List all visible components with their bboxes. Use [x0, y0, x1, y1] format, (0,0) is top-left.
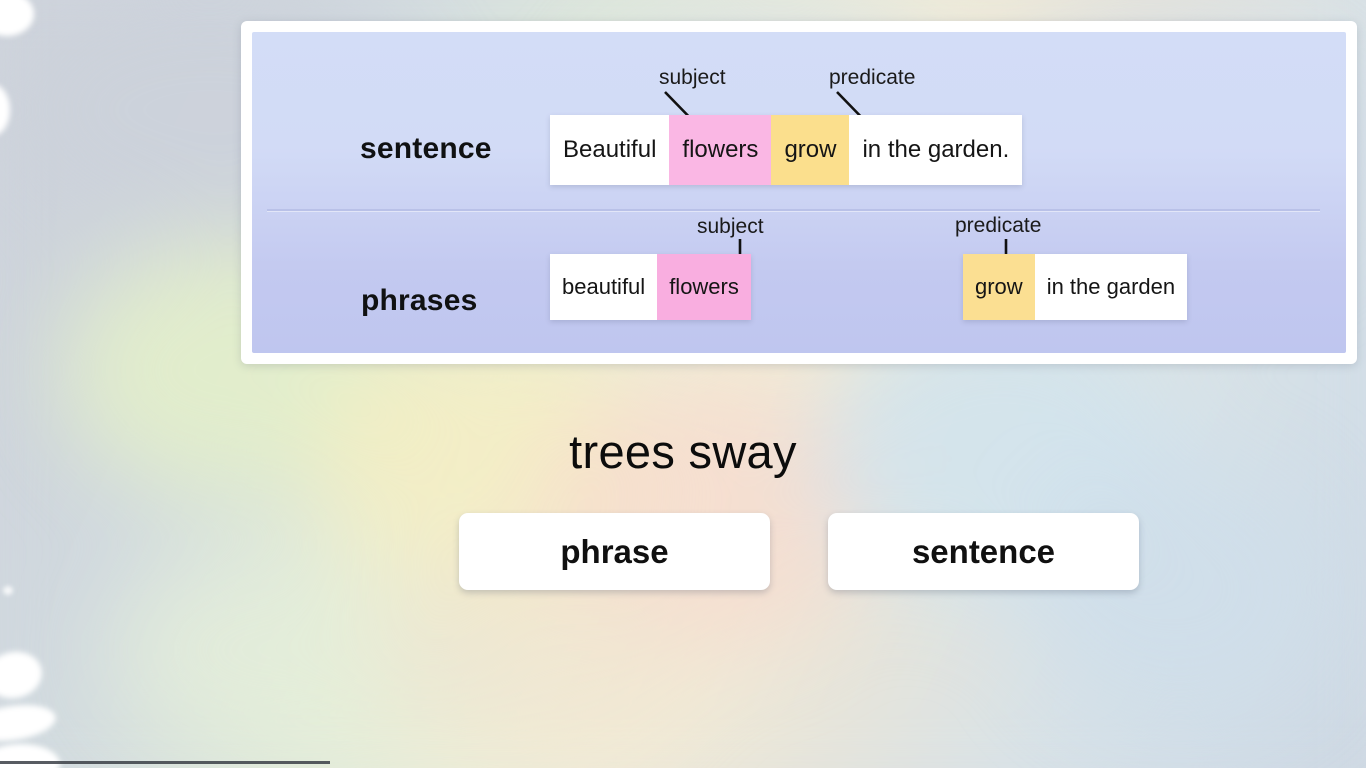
answer-options: phrase sentence	[459, 513, 1139, 590]
progress-bar	[0, 761, 330, 764]
question-prompt: trees sway	[0, 424, 1366, 479]
reference-card-panel: sentence subject predicate Beautiful flo…	[252, 32, 1346, 353]
phrases-predicate-annotation: predicate	[955, 214, 1041, 238]
phrases-row-label: phrases	[361, 284, 477, 318]
answer-button-sentence[interactable]: sentence	[828, 513, 1139, 590]
sentence-word-strip: Beautiful flowers grow in the garden.	[550, 115, 1022, 185]
petal-shape	[3, 586, 13, 595]
phrase-cell-in-the-garden: in the garden	[1035, 254, 1187, 320]
sentence-subject-annotation: subject	[659, 66, 726, 90]
sentence-row-label: sentence	[360, 132, 492, 166]
sentence-cell-grow: grow	[771, 115, 849, 185]
phrase-cell-beautiful: beautiful	[550, 254, 657, 320]
phrase-predicate-strip: grow in the garden	[963, 254, 1187, 320]
sentence-cell-in-the-garden: in the garden.	[849, 115, 1022, 185]
phrases-subject-annotation: subject	[697, 215, 764, 239]
phrase-subject-strip: beautiful flowers	[550, 254, 751, 320]
reference-card: sentence subject predicate Beautiful flo…	[241, 21, 1357, 364]
sentence-row: sentence subject predicate Beautiful flo…	[252, 32, 1346, 209]
sentence-predicate-annotation: predicate	[829, 66, 915, 90]
app-root: sentence subject predicate Beautiful flo…	[0, 0, 1366, 768]
phrases-row: phrases subject predicate beautiful flow…	[252, 211, 1346, 353]
phrase-cell-grow: grow	[963, 254, 1035, 320]
sentence-cell-flowers: flowers	[669, 115, 771, 185]
sentence-cell-beautiful: Beautiful	[550, 115, 669, 185]
answer-button-phrase[interactable]: phrase	[459, 513, 770, 590]
phrase-cell-flowers: flowers	[657, 254, 751, 320]
background-blob	[1030, 460, 1330, 720]
